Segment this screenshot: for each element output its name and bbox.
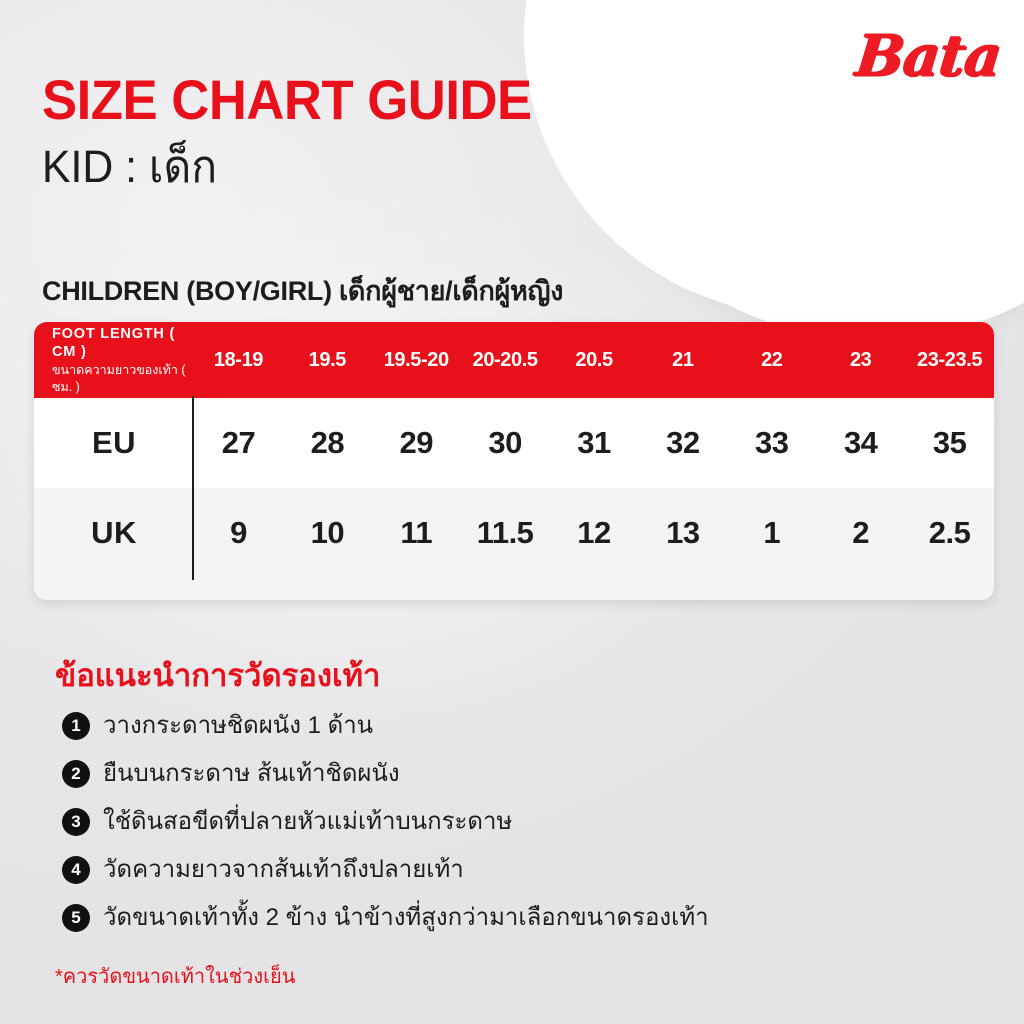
header-cell: 23 <box>816 322 905 398</box>
list-item: 2 ยืนบนกระดาษ ส้นเท้าชิดผนัง <box>62 750 709 798</box>
list-item: 3 ใช้ดินสอขีดที่ปลายหัวแม่เท้าบนกระดาษ <box>62 798 709 846</box>
list-item: 5 วัดขนาดเท้าทั้ง 2 ข้าง นำข้างที่สูงกว่… <box>62 894 709 942</box>
table-header-row: FOOT LENGTH ( CM ) ขนาดความยาวของเท้า ( … <box>34 322 994 398</box>
step-number-badge: 1 <box>62 712 90 740</box>
step-number-badge: 4 <box>62 856 90 884</box>
table-row: UK 9 10 11 11.5 12 13 1 2 2.5 <box>34 488 994 578</box>
bata-logo: Bata <box>852 22 1003 89</box>
step-number-badge: 5 <box>62 904 90 932</box>
table-cell: 2 <box>816 488 905 578</box>
row-label-eu: EU <box>34 398 194 488</box>
step-number-badge: 2 <box>62 760 90 788</box>
header-cell: 22 <box>727 322 816 398</box>
step-text: วัดความยาวจากส้นเท้าถึงปลายเท้า <box>103 857 464 883</box>
header-cell: 20-20.5 <box>461 322 550 398</box>
row-cells-uk: 9 10 11 11.5 12 13 1 2 2.5 <box>194 488 994 578</box>
tips-title: ข้อแนะนำการวัดรองเท้า <box>55 650 380 700</box>
table-footer-spacer <box>34 578 994 600</box>
table-cell: 28 <box>283 398 372 488</box>
table-row: EU 27 28 29 30 31 32 33 34 35 <box>34 398 994 488</box>
table-header-cells: 18-19 19.5 19.5-20 20-20.5 20.5 21 22 23… <box>194 322 994 398</box>
footnote: *ควรวัดขนาดเท้าในช่วงเย็น <box>55 960 295 992</box>
foot-length-label-th: ขนาดความยาวของเท้า ( ซม. ) <box>52 362 194 395</box>
header-cell: 19.5-20 <box>372 322 461 398</box>
page-title: SIZE CHART GUIDE <box>42 72 532 128</box>
header-cell: 23-23.5 <box>905 322 994 398</box>
list-item: 4 วัดความยาวจากส้นเท้าถึงปลายเท้า <box>62 846 709 894</box>
table-cell: 11.5 <box>461 488 550 578</box>
tips-list: 1 วางกระดาษชิดผนัง 1 ด้าน 2 ยืนบนกระดาษ … <box>62 702 709 942</box>
step-text: วางกระดาษชิดผนัง 1 ด้าน <box>103 713 373 739</box>
step-text: วัดขนาดเท้าทั้ง 2 ข้าง นำข้างที่สูงกว่าม… <box>103 905 709 931</box>
list-item: 1 วางกระดาษชิดผนัง 1 ด้าน <box>62 702 709 750</box>
table-cell: 10 <box>283 488 372 578</box>
table-cell: 1 <box>727 488 816 578</box>
header-cell: 19.5 <box>283 322 372 398</box>
step-number-badge: 3 <box>62 808 90 836</box>
size-chart-table: FOOT LENGTH ( CM ) ขนาดความยาวของเท้า ( … <box>34 322 994 600</box>
foot-length-label-en: FOOT LENGTH ( CM ) <box>52 325 194 361</box>
table-cell: 32 <box>638 398 727 488</box>
table-cell: 29 <box>372 398 461 488</box>
row-label-uk: UK <box>34 488 194 578</box>
step-text: ยืนบนกระดาษ ส้นเท้าชิดผนัง <box>103 761 400 787</box>
header-cell: 21 <box>638 322 727 398</box>
table-cell: 27 <box>194 398 283 488</box>
table-cell: 9 <box>194 488 283 578</box>
step-text: ใช้ดินสอขีดที่ปลายหัวแม่เท้าบนกระดาษ <box>103 809 512 835</box>
section-label: CHILDREN (BOY/GIRL) เด็กผู้ชาย/เด็กผู้หญ… <box>42 269 563 312</box>
header-cell: 18-19 <box>194 322 283 398</box>
table-cell: 33 <box>727 398 816 488</box>
table-cell: 12 <box>550 488 639 578</box>
table-cell: 34 <box>816 398 905 488</box>
table-cell: 11 <box>372 488 461 578</box>
table-cell: 13 <box>638 488 727 578</box>
table-cell: 35 <box>905 398 994 488</box>
page-subtitle: KID : เด็ก <box>42 143 217 190</box>
table-cell: 31 <box>550 398 639 488</box>
table-cell: 30 <box>461 398 550 488</box>
row-cells-eu: 27 28 29 30 31 32 33 34 35 <box>194 398 994 488</box>
table-cell: 2.5 <box>905 488 994 578</box>
table-header-label-cell: FOOT LENGTH ( CM ) ขนาดความยาวของเท้า ( … <box>34 322 194 398</box>
header-cell: 20.5 <box>550 322 639 398</box>
